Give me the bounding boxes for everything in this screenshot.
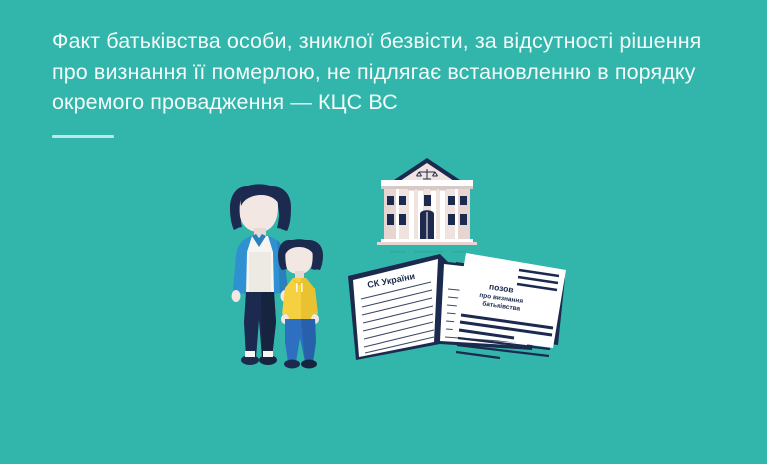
news-banner: Факт батьківства особи, зниклої безвісти… [0,0,767,464]
documents-group: СК України [348,253,566,360]
illustration-scene: СК України [0,0,767,464]
figure-woman [230,184,291,365]
figure-boy [278,239,323,368]
courthouse [377,158,477,253]
